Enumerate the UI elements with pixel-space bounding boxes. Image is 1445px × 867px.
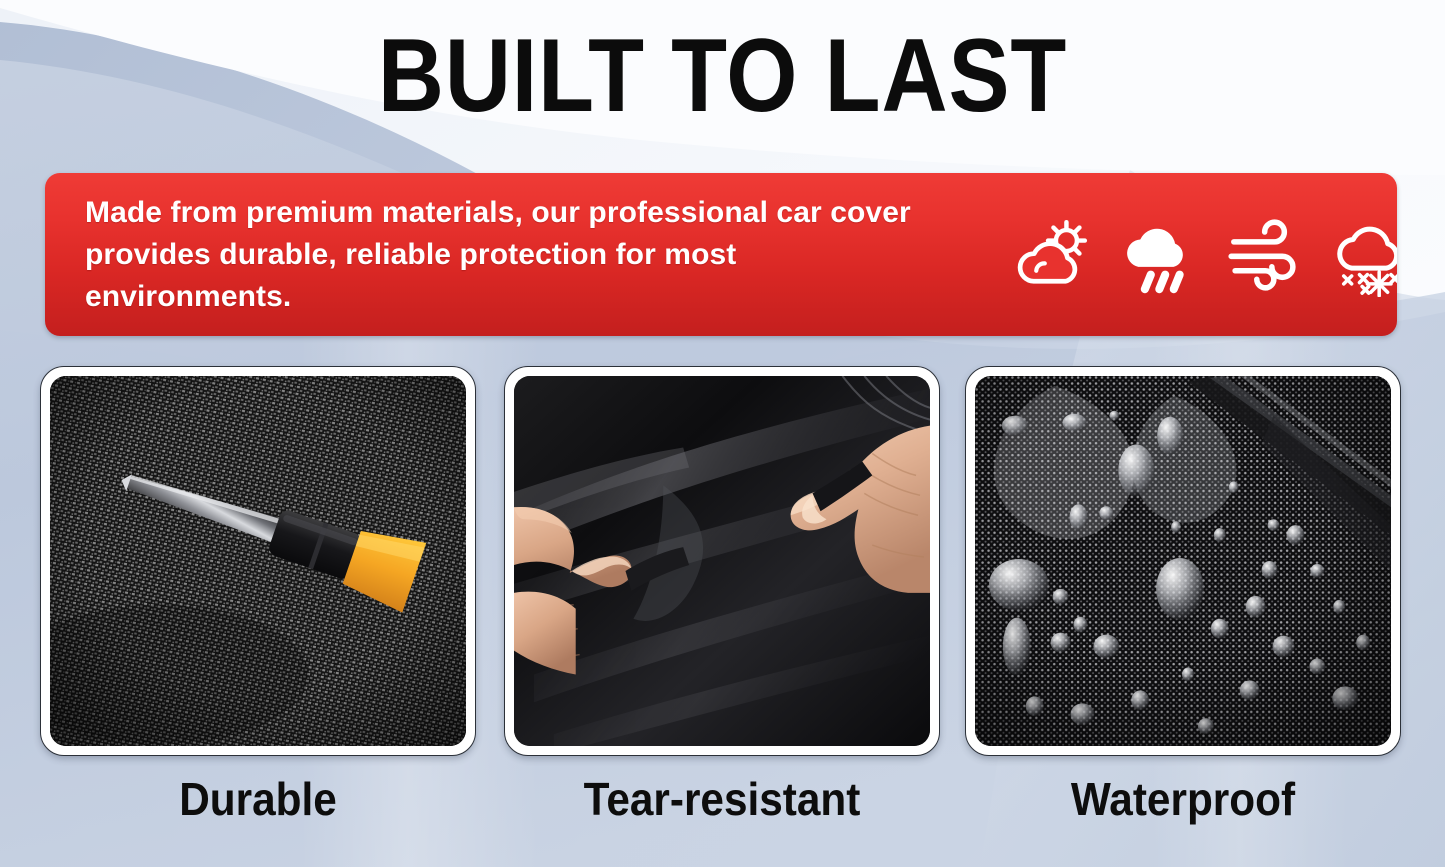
rain-cloud-icon (1116, 213, 1200, 297)
feature-label: Waterproof (982, 772, 1383, 826)
feature-label: Durable (57, 772, 458, 826)
photo-hands-stretching-black-fabric (514, 376, 930, 746)
photo-frame (504, 366, 940, 756)
photo-woven-fabric-with-screwdriver (50, 376, 466, 746)
wind-icon (1222, 213, 1306, 297)
photo-frame (965, 366, 1401, 756)
feature-card-row: Durable (0, 366, 1445, 846)
feature-card-durable[interactable]: Durable (40, 366, 476, 826)
feature-card-tear-resistant[interactable]: Tear-resistant (504, 366, 940, 826)
snow-cloud-icon (1328, 213, 1397, 297)
weather-icon-group (1000, 173, 1397, 336)
infographic-page: BUILT TO LAST Made from premium material… (0, 0, 1445, 867)
page-title: BUILT TO LAST (87, 22, 1359, 130)
photo-water-beads-on-fabric (975, 376, 1391, 746)
feature-card-waterproof[interactable]: Waterproof (965, 366, 1401, 826)
sun-cloud-icon (1010, 213, 1094, 297)
feature-label: Tear-resistant (521, 772, 922, 826)
promo-banner: Made from premium materials, our profess… (45, 173, 1397, 336)
promo-banner-text: Made from premium materials, our profess… (45, 192, 945, 318)
photo-frame (40, 366, 476, 756)
